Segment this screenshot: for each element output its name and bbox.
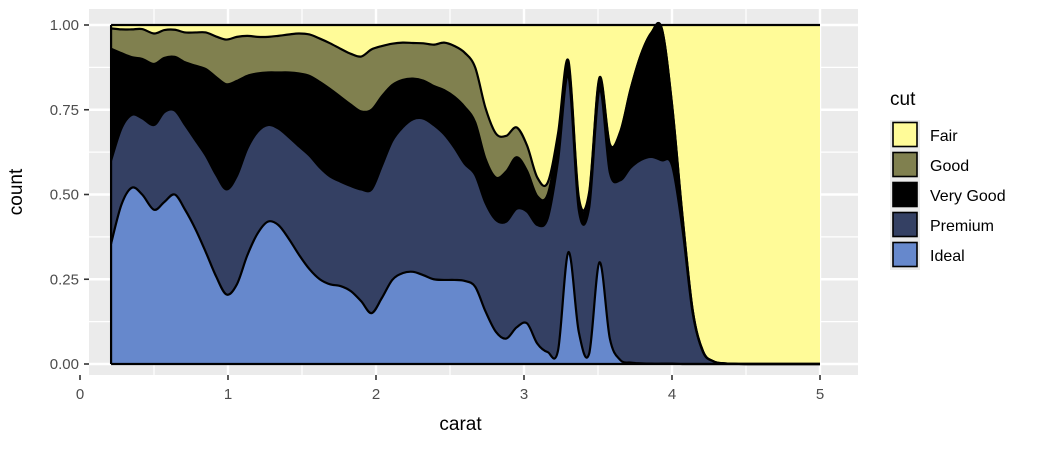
y-tick-label: 0.25 [50, 271, 79, 288]
legend-swatch [893, 243, 917, 267]
x-tick-label: 1 [224, 386, 232, 403]
x-tick-label: 2 [372, 386, 380, 403]
x-tick-label: 3 [520, 386, 528, 403]
chart-container: 0.000.250.500.751.00 012345 carat count … [0, 0, 1050, 450]
stacked-density-plot: 0.000.250.500.751.00 012345 carat count … [0, 0, 1050, 450]
legend-swatch [893, 183, 917, 207]
x-tick-label: 4 [668, 386, 676, 403]
area-series-group [111, 23, 820, 364]
x-tick-label: 0 [76, 386, 84, 403]
y-tick-label: 0.00 [50, 356, 79, 373]
y-tick-label: 0.50 [50, 187, 79, 204]
x-axis-title: carat [439, 414, 482, 435]
y-tick-label: 0.75 [50, 102, 79, 119]
x-tick-label: 5 [816, 386, 824, 403]
legend-swatch [893, 123, 917, 147]
legend-label: Ideal [930, 248, 965, 265]
legend-title: cut [890, 89, 916, 110]
panel-group [6, 0, 894, 406]
y-axis-title: count [6, 168, 27, 215]
legend-label: Premium [930, 218, 994, 235]
legend-label: Very Good [930, 188, 1006, 205]
legend-label: Good [930, 158, 969, 175]
legend-label: Fair [930, 128, 958, 145]
legend-swatch [893, 153, 917, 177]
y-tick-label: 1.00 [50, 17, 79, 34]
legend-swatch [893, 213, 917, 237]
